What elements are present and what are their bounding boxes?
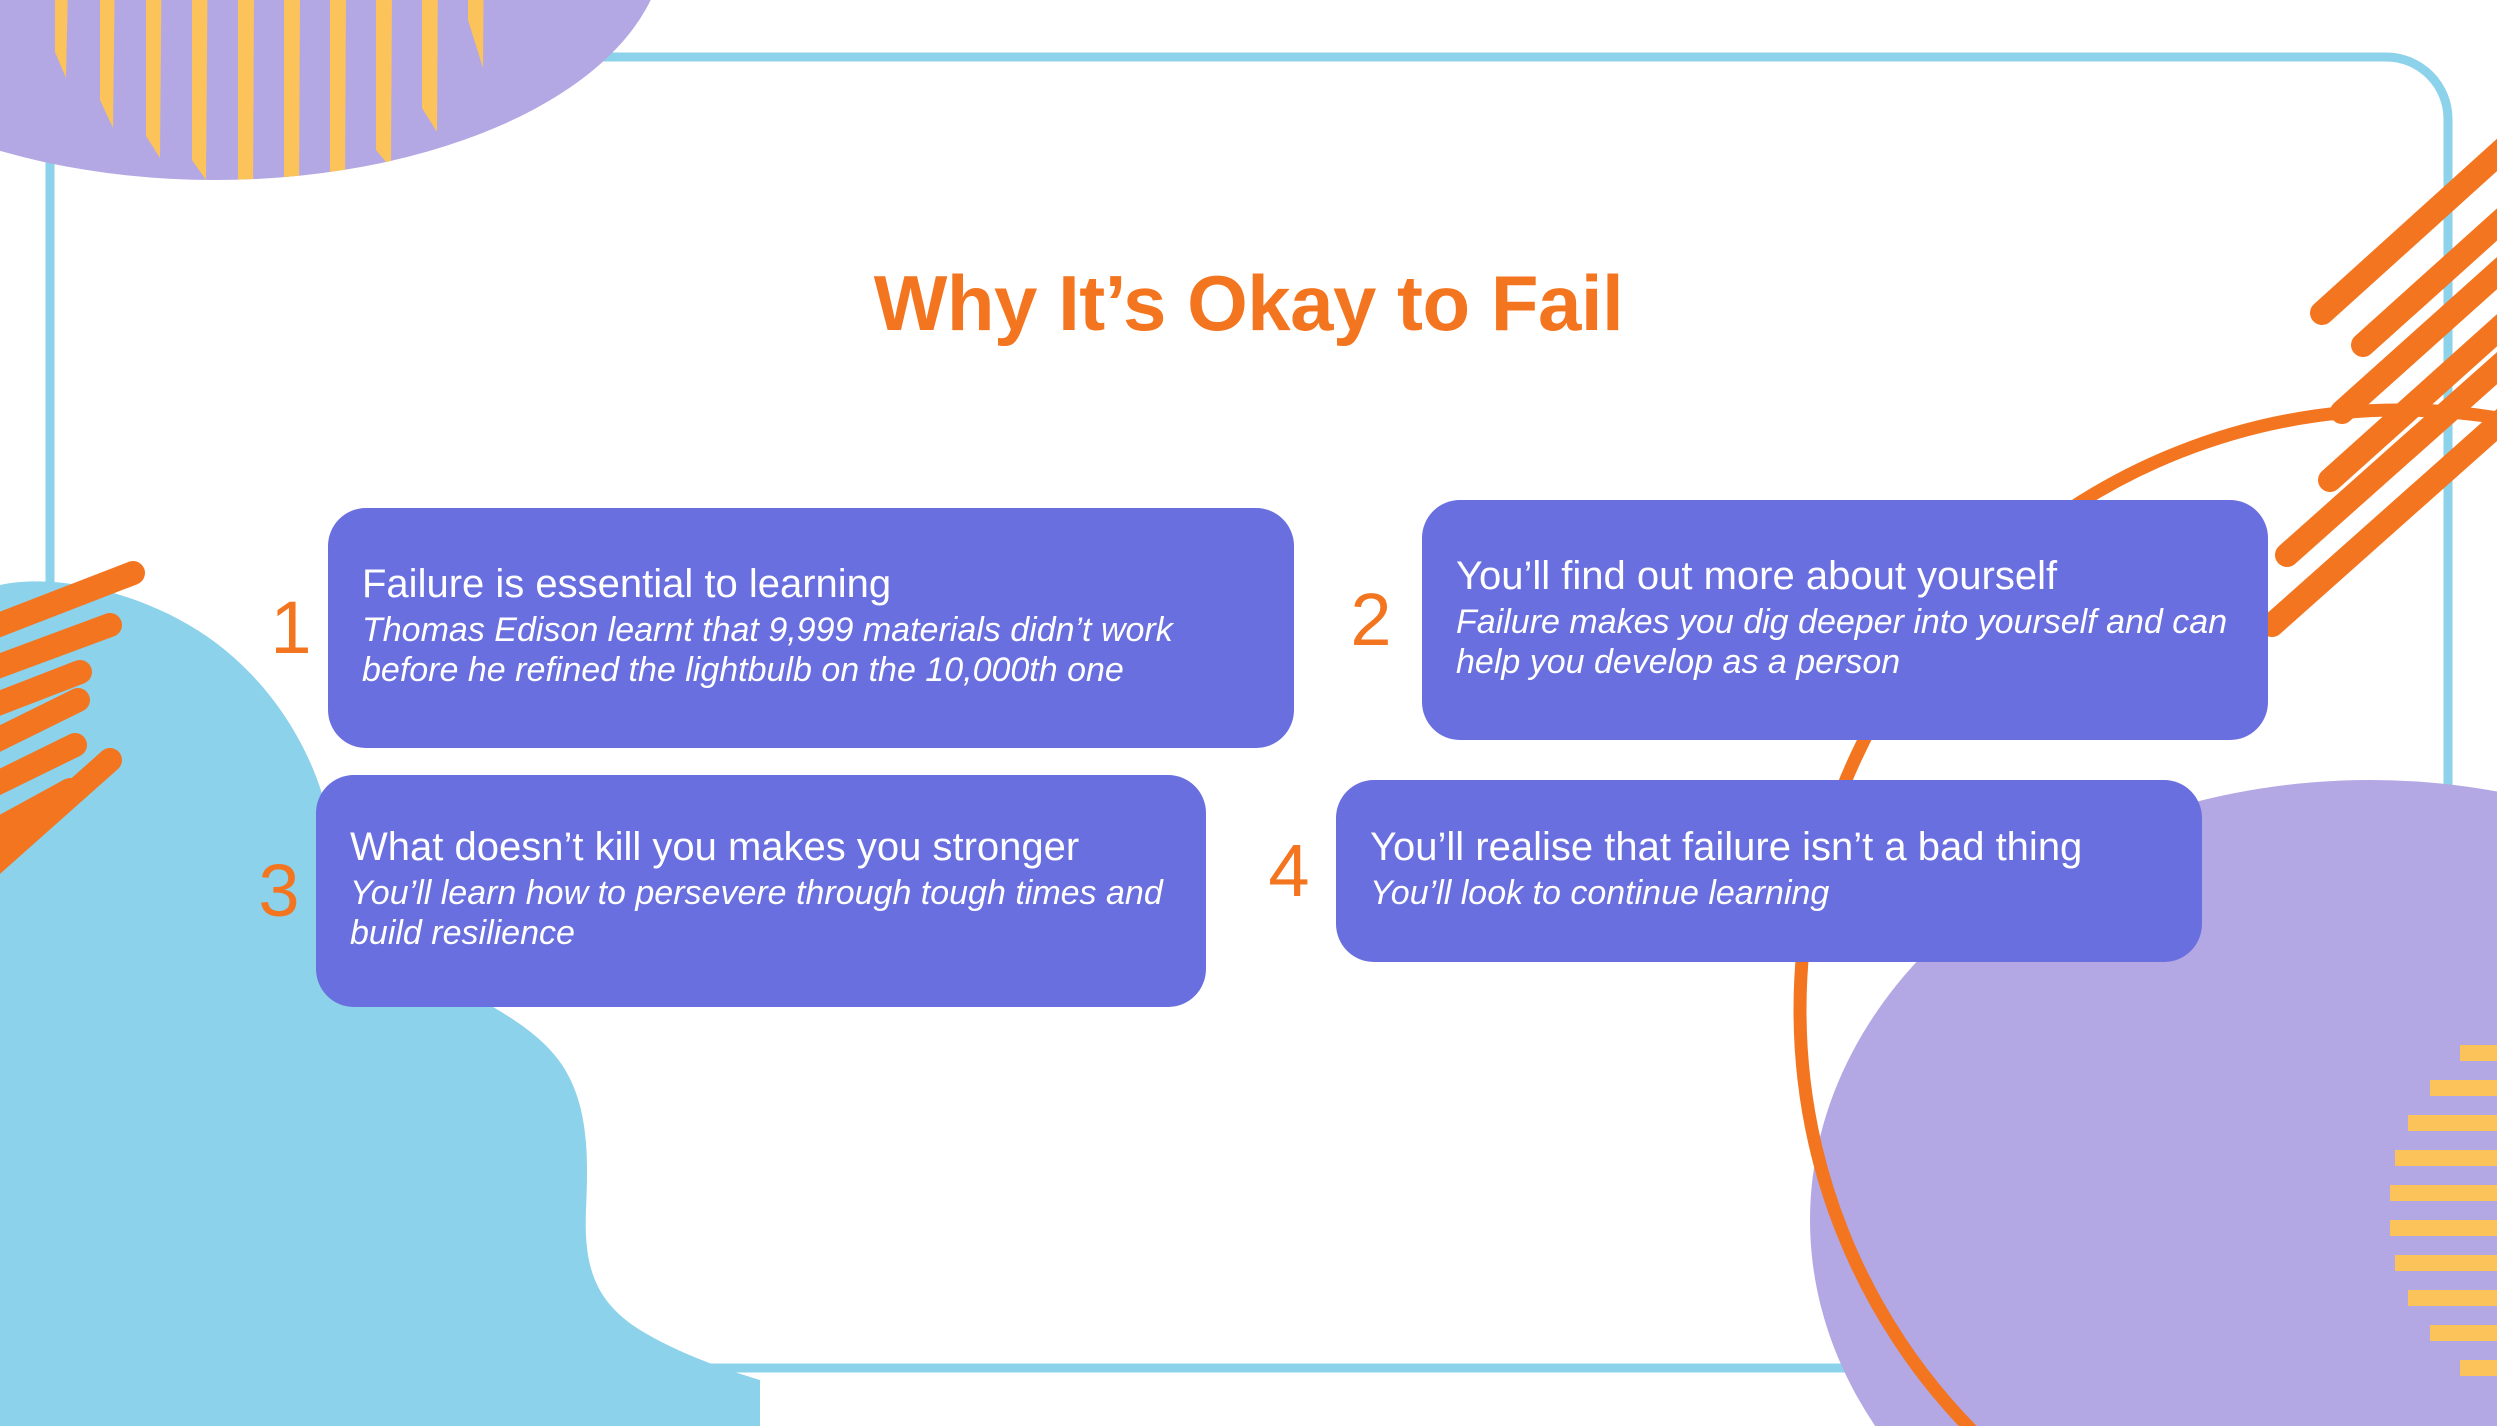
- item-subtitle-4: You’ll look to continue learning: [1370, 873, 2168, 913]
- item-title-1: Failure is essential to learning: [362, 562, 1260, 608]
- slide-canvas: Why It’s Okay to Fail 1 Failure is essen…: [0, 0, 2497, 1426]
- page-title: Why It’s Okay to Fail: [0, 258, 2497, 349]
- item-number-3: 3: [242, 854, 316, 928]
- item-title-2: You’ll find out more about yourself: [1456, 554, 2234, 600]
- item-card-4[interactable]: You’ll realise that failure isn’t a bad …: [1336, 780, 2202, 962]
- item-subtitle-2: Failure makes you dig deeper into yourse…: [1456, 602, 2234, 682]
- list-item-4: 4 You’ll realise that failure isn’t a ba…: [1252, 780, 2202, 962]
- item-number-1: 1: [254, 591, 328, 665]
- item-card-1[interactable]: Failure is essential to learning Thomas …: [328, 508, 1294, 748]
- item-subtitle-3: You’ll learn how to persevere through to…: [350, 873, 1172, 953]
- item-title-3: What doesn’t kill you makes you stronger: [350, 825, 1172, 871]
- item-card-3[interactable]: What doesn’t kill you makes you stronger…: [316, 775, 1206, 1007]
- item-number-4: 4: [1252, 834, 1326, 908]
- list-item-1: 1 Failure is essential to learning Thoma…: [254, 508, 1294, 748]
- list-item-2: 2 You’ll find out more about yourself Fa…: [1334, 500, 2268, 740]
- item-subtitle-1: Thomas Edison learnt that 9,999 material…: [362, 610, 1260, 690]
- list-item-3: 3 What doesn’t kill you makes you strong…: [242, 775, 1206, 1007]
- item-number-2: 2: [1334, 583, 1408, 657]
- item-title-4: You’ll realise that failure isn’t a bad …: [1370, 825, 2168, 871]
- item-card-2[interactable]: You’ll find out more about yourself Fail…: [1422, 500, 2268, 740]
